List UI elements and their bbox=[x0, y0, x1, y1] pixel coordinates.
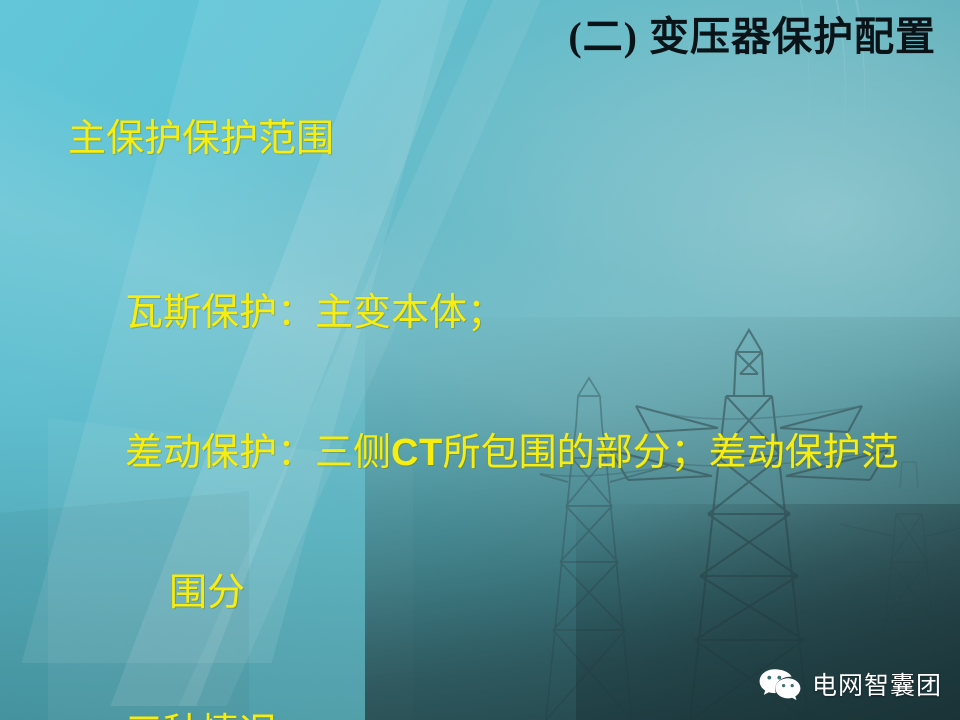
line-text: 瓦斯保护：主变本体； bbox=[125, 292, 505, 334]
watermark-label: 电网智囊团 bbox=[812, 666, 942, 702]
body-line-differential-protection: 差动保护：三侧CT所包围的部分；差动保护范 bbox=[68, 396, 950, 510]
presentation-slide: (二) 变压器保护配置 主保护保护范围 瓦斯保护：主变本体； 差动保护：三侧CT… bbox=[0, 0, 960, 720]
body-line-gas-protection: 瓦斯保护：主变本体； bbox=[68, 256, 950, 370]
slide-title: (二) 变压器保护配置 bbox=[0, 14, 936, 60]
line-text: 三种情况： bbox=[125, 712, 315, 720]
slide-body: 主保护保护范围 瓦斯保护：主变本体； 差动保护：三侧CT所包围的部分；差动保护范… bbox=[68, 120, 950, 720]
line-emphasis-ct: CT bbox=[391, 432, 443, 474]
line-text: 所包围的部分；差动保护范 bbox=[443, 432, 899, 474]
line-text: 差动保护：三侧 bbox=[125, 432, 391, 474]
body-heading: 主保护保护范围 bbox=[68, 120, 950, 158]
wechat-icon bbox=[758, 667, 802, 701]
watermark: 电网智囊团 bbox=[758, 666, 942, 702]
line-text: 围分 bbox=[169, 572, 245, 614]
body-line-differential-continued: 围分 bbox=[68, 536, 950, 650]
spacer bbox=[68, 184, 950, 256]
